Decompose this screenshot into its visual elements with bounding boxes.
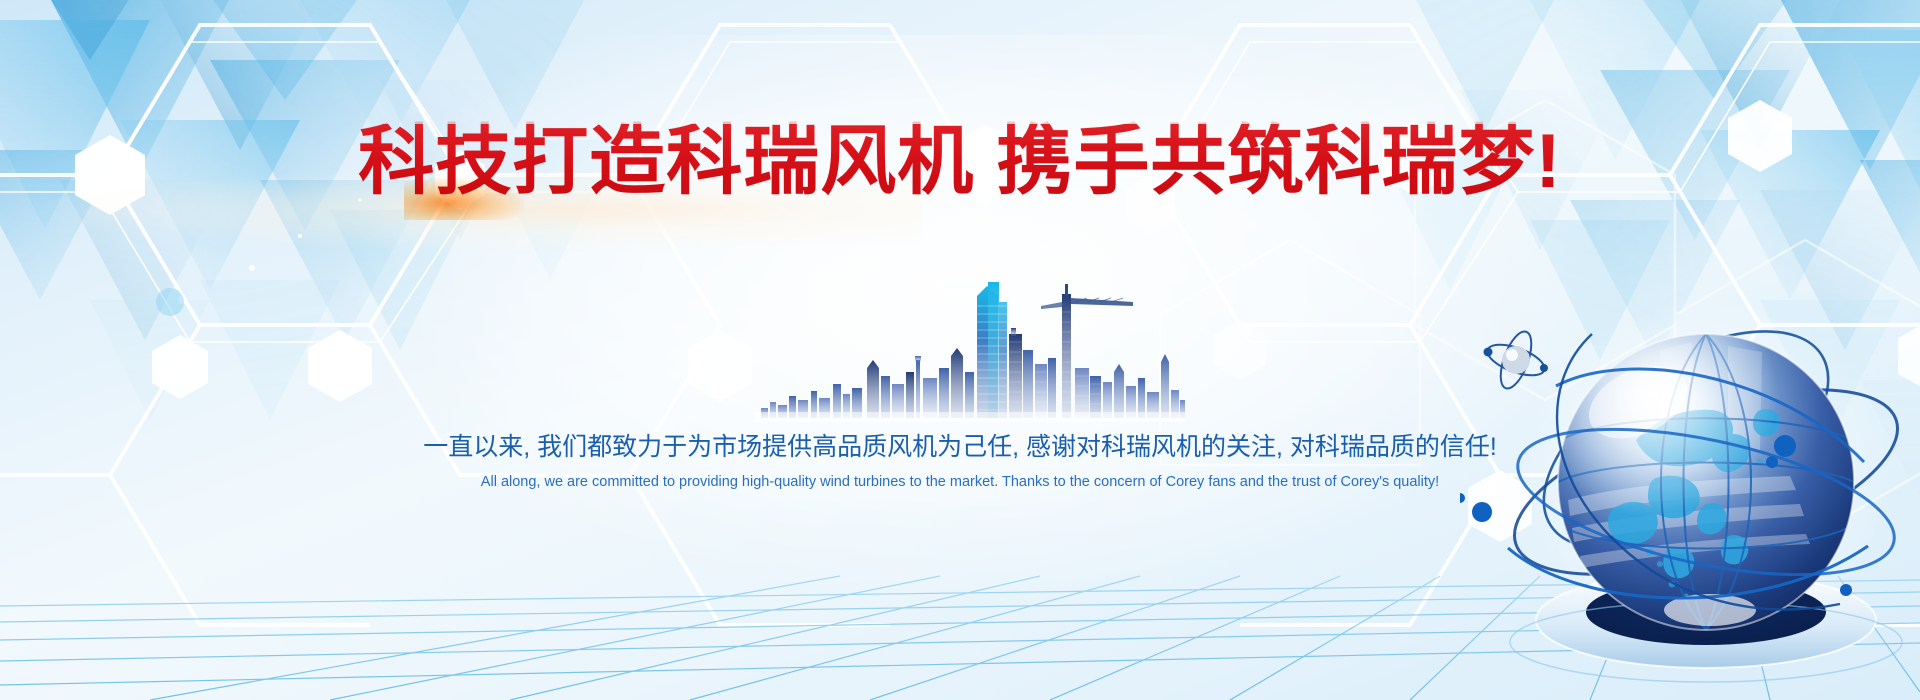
globe-orbit-icon xyxy=(1460,290,1920,700)
banner-subtitle-english: All along, we are committed to providing… xyxy=(0,474,1920,491)
city-skyline-icon xyxy=(755,272,1185,422)
hexagon-mesh-icon xyxy=(0,0,1920,700)
banner-subtitle-chinese: 一直以来, 我们都致力于为市场提供高品质风机为己任, 感谢对科瑞风机的关注, 对… xyxy=(0,432,1920,462)
promo-banner: 科技打造科瑞风机 携手共筑科瑞梦! 科技打造科瑞风机 携手共筑科瑞梦! 一直以来… xyxy=(0,0,1920,700)
banner-headline: 科技打造科瑞风机 携手共筑科瑞梦! xyxy=(0,124,1920,200)
perspective-grid-icon xyxy=(0,480,1920,700)
